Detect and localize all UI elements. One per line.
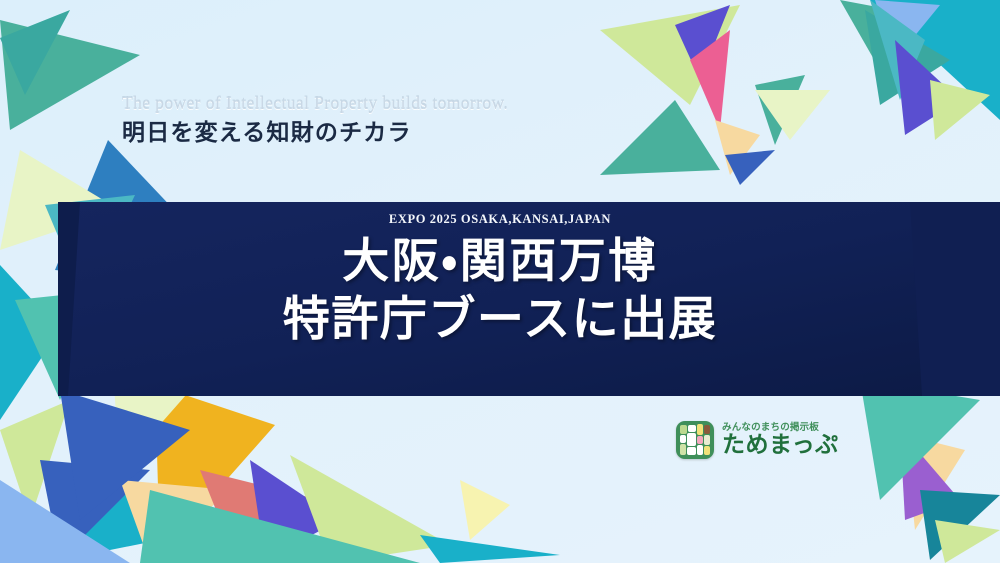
logo-tile-4 <box>680 435 686 443</box>
promo-banner-canvas: The power of Intellectual Property build… <box>0 0 1000 563</box>
navy-banner: EXPO 2025 OSAKA,KANSAI,JAPAN 大阪・関西万博 特許庁… <box>0 196 1000 402</box>
tagline-block: The power of Intellectual Property build… <box>122 93 722 146</box>
navy-banner-shape <box>0 196 1000 402</box>
decor-triangle-21 <box>725 150 775 185</box>
decor-triangle-34 <box>935 520 1000 563</box>
decor-triangle-40 <box>420 535 560 563</box>
tamemap-grid-icon <box>676 421 714 459</box>
logo-tile-11 <box>704 446 710 455</box>
logo-tile-10 <box>697 445 703 455</box>
logo-tile-3 <box>704 425 710 434</box>
logo-tile-8 <box>680 444 686 455</box>
logo-tile-6 <box>697 436 703 444</box>
logo-text-block: みんなのまちの掲示板 ためまっぷ <box>722 423 839 458</box>
logo-tile-2 <box>697 424 703 435</box>
logo-tile-5 <box>687 433 696 446</box>
tagline-english: The power of Intellectual Property build… <box>122 93 722 115</box>
tamemap-logo[interactable]: みんなのまちの掲示板 ためまっぷ <box>676 421 839 459</box>
tagline-japanese: 明日を変える知財のチカラ <box>122 119 722 147</box>
logo-tile-1 <box>688 425 696 432</box>
logo-tile-0 <box>680 425 687 434</box>
logo-subtitle: みんなのまちの掲示板 <box>722 423 839 433</box>
logo-name: ためまっぷ <box>722 434 839 457</box>
logo-tile-7 <box>704 435 710 445</box>
decor-triangle-41 <box>460 480 510 540</box>
logo-tile-9 <box>687 447 696 455</box>
